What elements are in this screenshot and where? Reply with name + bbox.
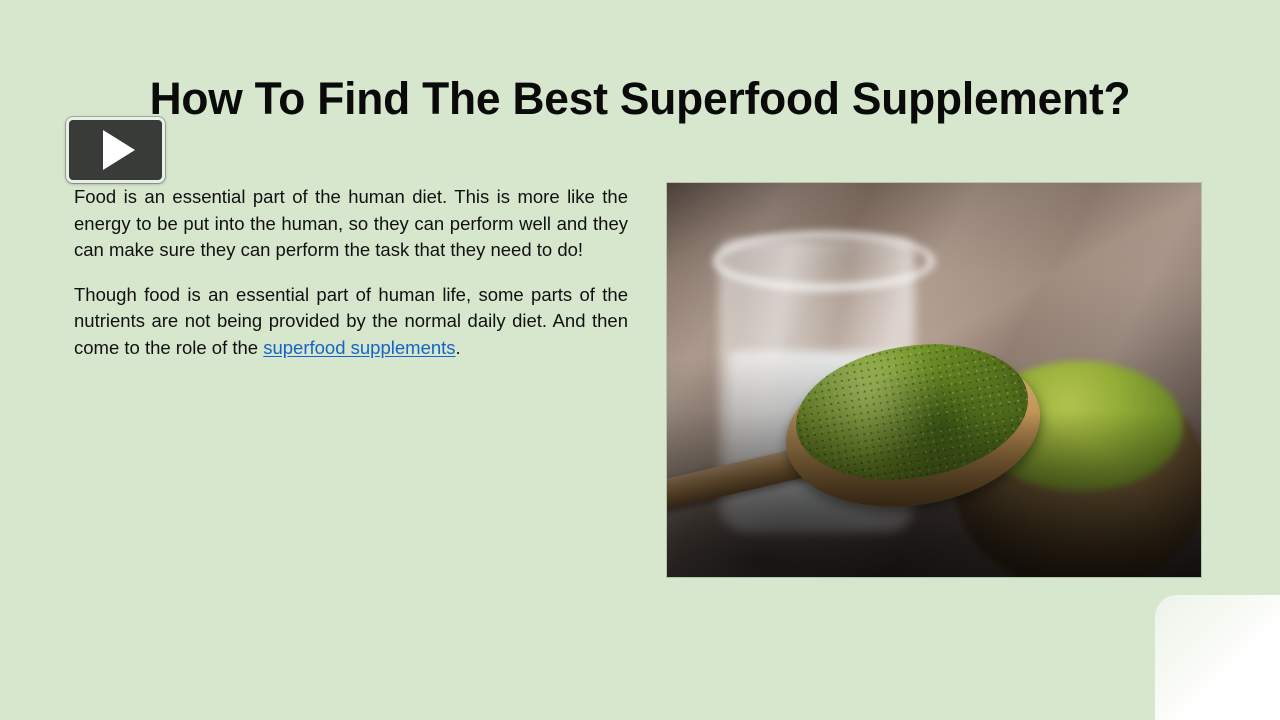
corner-decoration-panel — [1155, 595, 1280, 720]
paragraph-2-text-tail: . — [456, 337, 461, 358]
page-title: How To Find The Best Superfood Supplemen… — [69, 72, 1212, 128]
body-text-column: Food is an essential part of the human d… — [74, 184, 628, 361]
superfood-supplements-link[interactable]: superfood supplements — [263, 337, 455, 358]
photo-vignette — [667, 183, 1201, 577]
paragraph-1-text: Food is an essential part of the human d… — [74, 186, 628, 260]
body-paragraph-1: Food is an essential part of the human d… — [74, 184, 628, 264]
superfood-photo — [667, 183, 1201, 577]
slide-canvas: How To Find The Best Superfood Supplemen… — [0, 0, 1280, 720]
play-icon — [103, 130, 135, 170]
body-paragraph-2: Though food is an essential part of huma… — [74, 282, 628, 362]
video-play-button[interactable] — [66, 117, 165, 183]
